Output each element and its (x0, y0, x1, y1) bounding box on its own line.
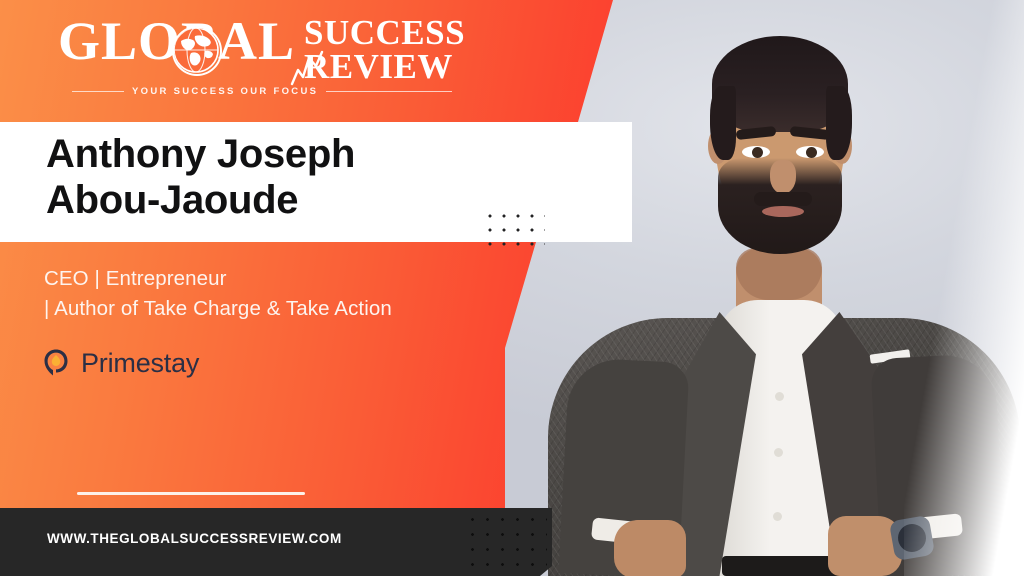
hair-side-right (826, 86, 852, 160)
person-role-line-1: CEO | Entrepreneur (44, 264, 544, 294)
shirt-button (773, 512, 782, 521)
website-url: WWW.THEGLOBALSUCCESSREVIEW.COM (47, 531, 342, 546)
pupil-left (752, 147, 763, 158)
logo-review-text: REVIEW (304, 50, 465, 84)
tagline-rule-right (326, 91, 452, 92)
portrait-photo (540, 0, 1024, 576)
divider-rule (77, 492, 305, 495)
publication-logo: GLOBAL SUCCESS REVIEW YOUR SUCCESS OUR F… (58, 14, 478, 100)
promo-card: GLOBAL SUCCESS REVIEW YOUR SUCCESS OUR F… (0, 0, 1024, 576)
shirt-button (774, 448, 783, 457)
company-name: Primestay (81, 348, 199, 379)
lips (762, 206, 804, 217)
company-logo: Primestay (42, 347, 199, 379)
decorative-dot-grid (481, 207, 545, 255)
hair-side-left (710, 86, 736, 160)
mustache (754, 192, 812, 206)
photo-edge-fade (904, 0, 1024, 576)
pupil-right (806, 147, 817, 158)
logo-success-text: SUCCESS (304, 16, 465, 50)
logo-secondary-words: SUCCESS REVIEW (304, 16, 465, 83)
globe-icon (172, 26, 222, 76)
person-name-line-1: Anthony Joseph (46, 132, 606, 178)
shirt-button (775, 392, 784, 401)
nose (770, 160, 796, 194)
tagline-rule-left (72, 91, 124, 92)
footer-dot-pattern (465, 512, 547, 574)
logo-tagline: YOUR SUCCESS OUR FOCUS (132, 86, 318, 97)
logo-tagline-row: YOUR SUCCESS OUR FOCUS (72, 86, 452, 97)
hand-left (614, 520, 686, 576)
neck-shadow (736, 248, 822, 300)
location-pin-drop-icon (42, 347, 70, 379)
person-role-line-2: | Author of Take Charge & Take Action (44, 294, 544, 324)
person-role: CEO | Entrepreneur | Author of Take Char… (44, 264, 544, 325)
